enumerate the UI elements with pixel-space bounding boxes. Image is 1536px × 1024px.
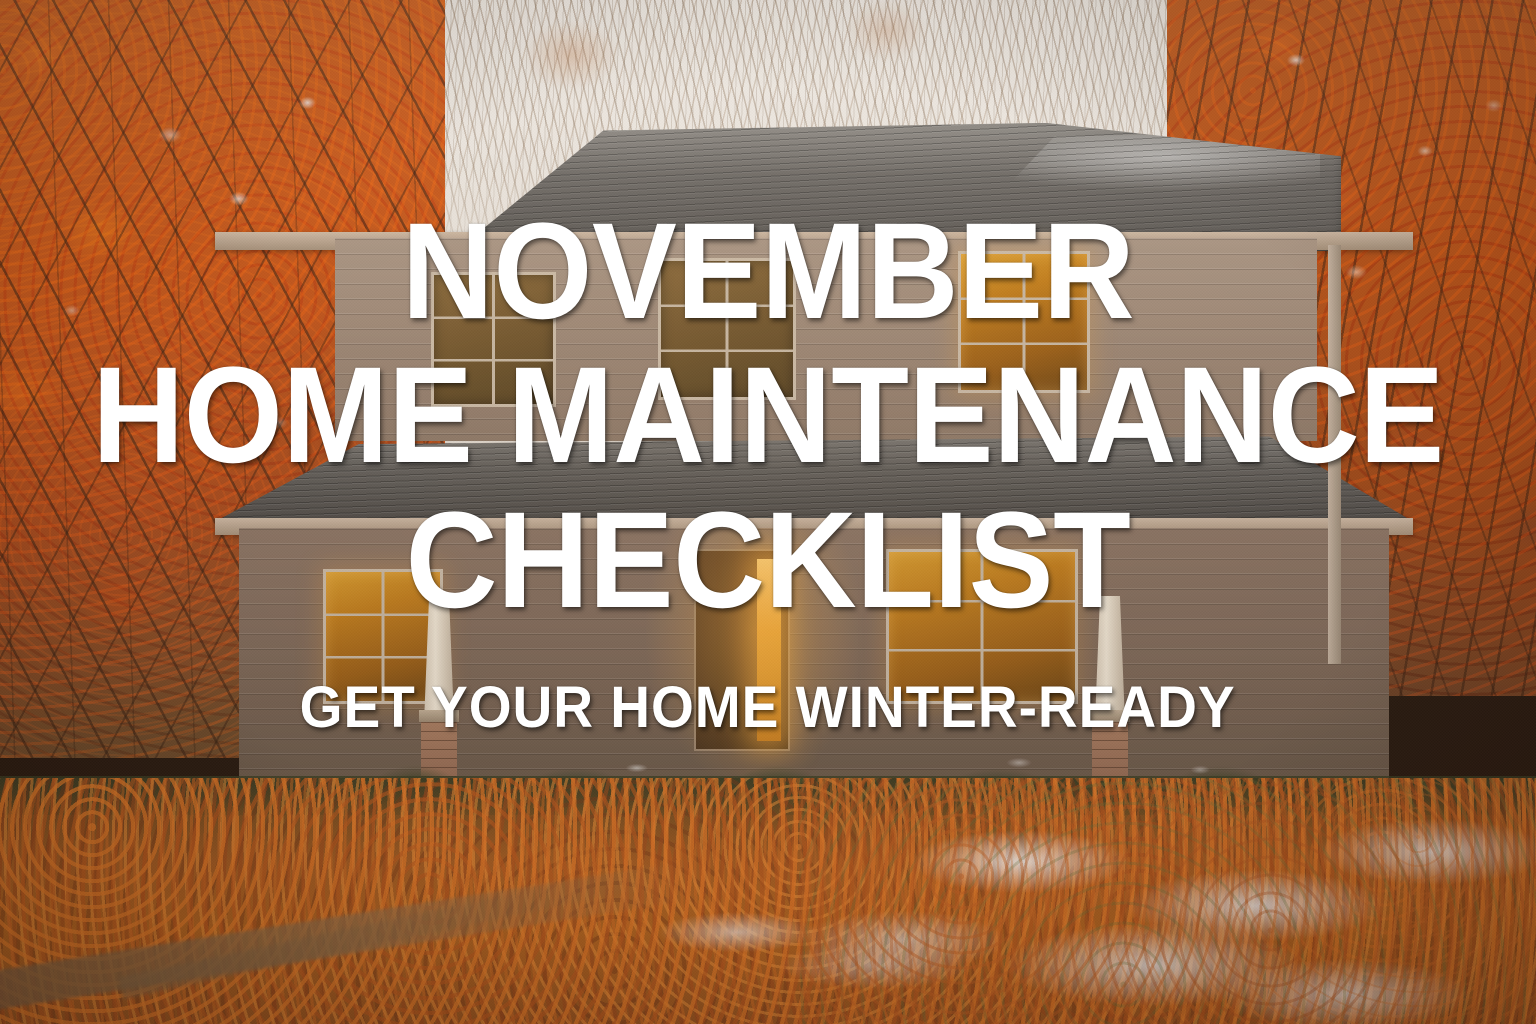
poster-canvas: NOVEMBER HOME MAINTENANCE CHECKLIST GET … xyxy=(0,0,1536,1024)
ground-plane xyxy=(0,778,1536,1024)
snow-field-right xyxy=(799,778,1536,1024)
roof-snow-dusting xyxy=(941,133,1321,192)
poster-title: NOVEMBER HOME MAINTENANCE CHECKLIST xyxy=(0,205,1536,628)
title-line-3: CHECKLIST xyxy=(54,494,1482,628)
title-line-2: HOME MAINTENANCE xyxy=(54,349,1482,483)
title-line-1: NOVEMBER xyxy=(54,205,1482,339)
poster-subtitle: GET YOUR HOME WINTER-READY xyxy=(300,674,1236,741)
